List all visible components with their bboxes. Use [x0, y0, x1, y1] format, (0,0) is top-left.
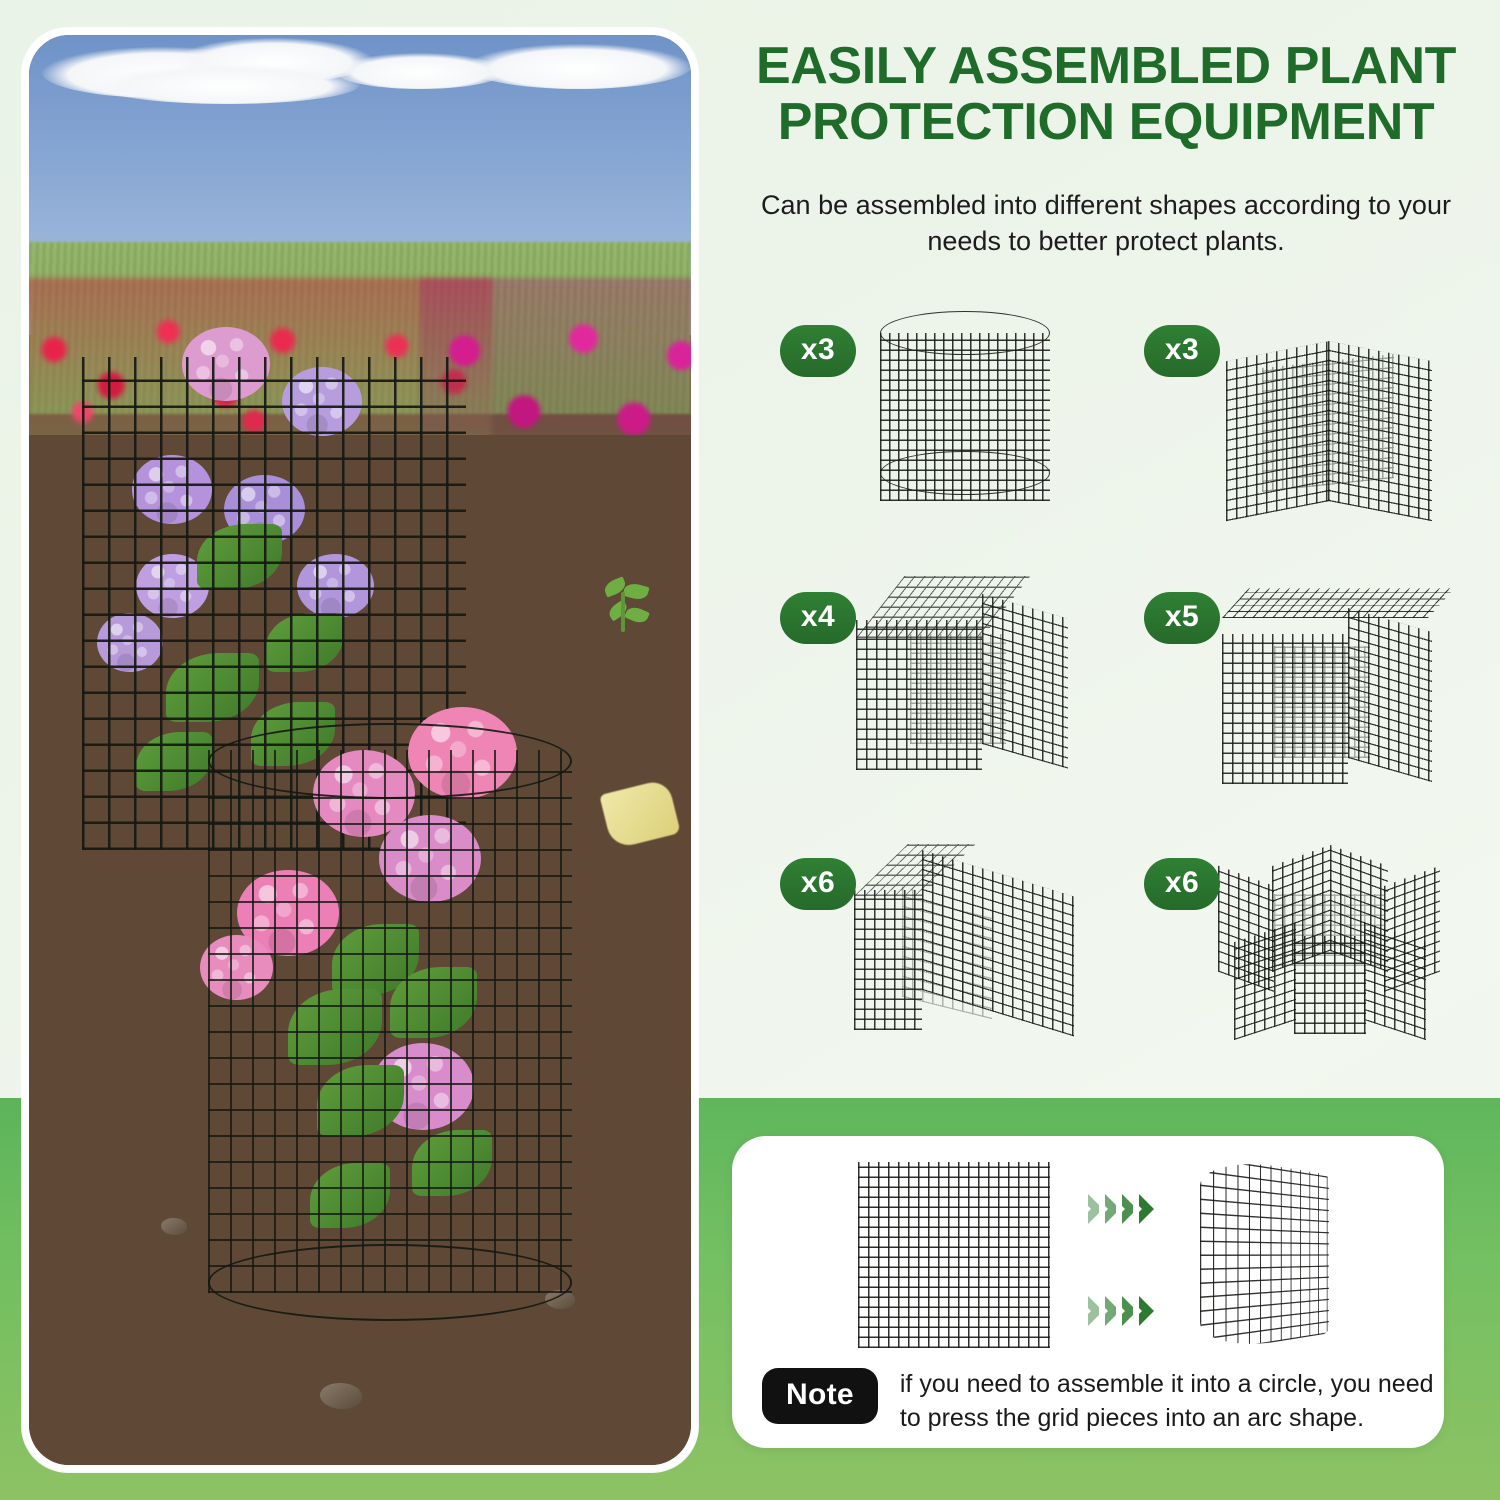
rock [161, 1218, 187, 1235]
shape-configuration-grid: x3 x3 x4 [760, 295, 1488, 1095]
open-top-cube-figure [852, 572, 1082, 797]
covered-cube-figure [1216, 572, 1446, 797]
cylinder-bottom-ring [880, 451, 1050, 495]
cage-top-rim [208, 723, 572, 799]
note-card: Note if you need to assemble it into a c… [732, 1136, 1444, 1448]
chevron-arrow-group-bottom [1088, 1296, 1154, 1326]
cloud-icon [466, 44, 691, 89]
arc-mesh-surface [1200, 1154, 1329, 1354]
box-inner-panel [902, 887, 992, 1019]
note-badge: Note [762, 1368, 878, 1424]
page-title: EASILY ASSEMBLED PLANT PROTECTION EQUIPM… [722, 38, 1490, 150]
cube-inner-panel [1274, 646, 1370, 758]
shape-option-cylinder[interactable]: x3 [760, 295, 1124, 562]
chevron-right-icon [1139, 1194, 1154, 1224]
flat-grid-panel-icon [858, 1162, 1050, 1348]
chevron-right-icon [1139, 1296, 1154, 1326]
cylinder-enclosure-figure [852, 305, 1082, 530]
cylindrical-wire-cage [208, 750, 572, 1293]
panel-count-badge: x6 [1144, 858, 1220, 910]
right-content-column: EASILY ASSEMBLED PLANT PROTECTION EQUIPM… [712, 0, 1500, 1098]
panel-count-badge: x4 [780, 592, 856, 644]
cube-lid-panel [1222, 588, 1455, 618]
triangle-inner-panel [1262, 354, 1394, 492]
rock [320, 1383, 362, 1409]
wire-mesh-surface [208, 750, 572, 1293]
shape-option-long-box[interactable]: x6 [760, 828, 1124, 1095]
arc-grid-panel-icon [1200, 1154, 1396, 1354]
page-subtitle: Can be assembled into different shapes a… [732, 188, 1480, 259]
seedling-sprout [598, 578, 656, 638]
infographic-page: EASILY ASSEMBLED PLANT PROTECTION EQUIPM… [0, 0, 1500, 1500]
panel-count-badge: x3 [1144, 325, 1220, 377]
hex-inner-panel [1274, 894, 1384, 966]
panel-count-badge: x6 [780, 858, 856, 910]
long-rectangular-figure [852, 838, 1082, 1063]
hexagonal-enclosure-figure [1216, 838, 1446, 1063]
shape-option-triangle[interactable]: x3 [1124, 295, 1488, 562]
cube-inner-panel [910, 634, 1006, 744]
product-photo [29, 35, 691, 1465]
chevron-arrow-group-top [1088, 1194, 1154, 1224]
product-photo-frame [22, 28, 698, 1472]
panel-count-badge: x5 [1144, 592, 1220, 644]
note-row: Note if you need to assemble it into a c… [762, 1368, 1444, 1435]
panel-count-badge: x3 [780, 325, 856, 377]
triangular-enclosure-figure [1216, 305, 1446, 530]
shape-option-covered-cube[interactable]: x5 [1124, 562, 1488, 829]
shape-option-open-cube[interactable]: x4 [760, 562, 1124, 829]
shape-option-hexagon[interactable]: x6 [1124, 828, 1488, 1095]
cage-bottom-rim [208, 1244, 572, 1320]
cloud-icon [95, 65, 360, 104]
note-text: if you need to assemble it into a circle… [900, 1368, 1444, 1435]
